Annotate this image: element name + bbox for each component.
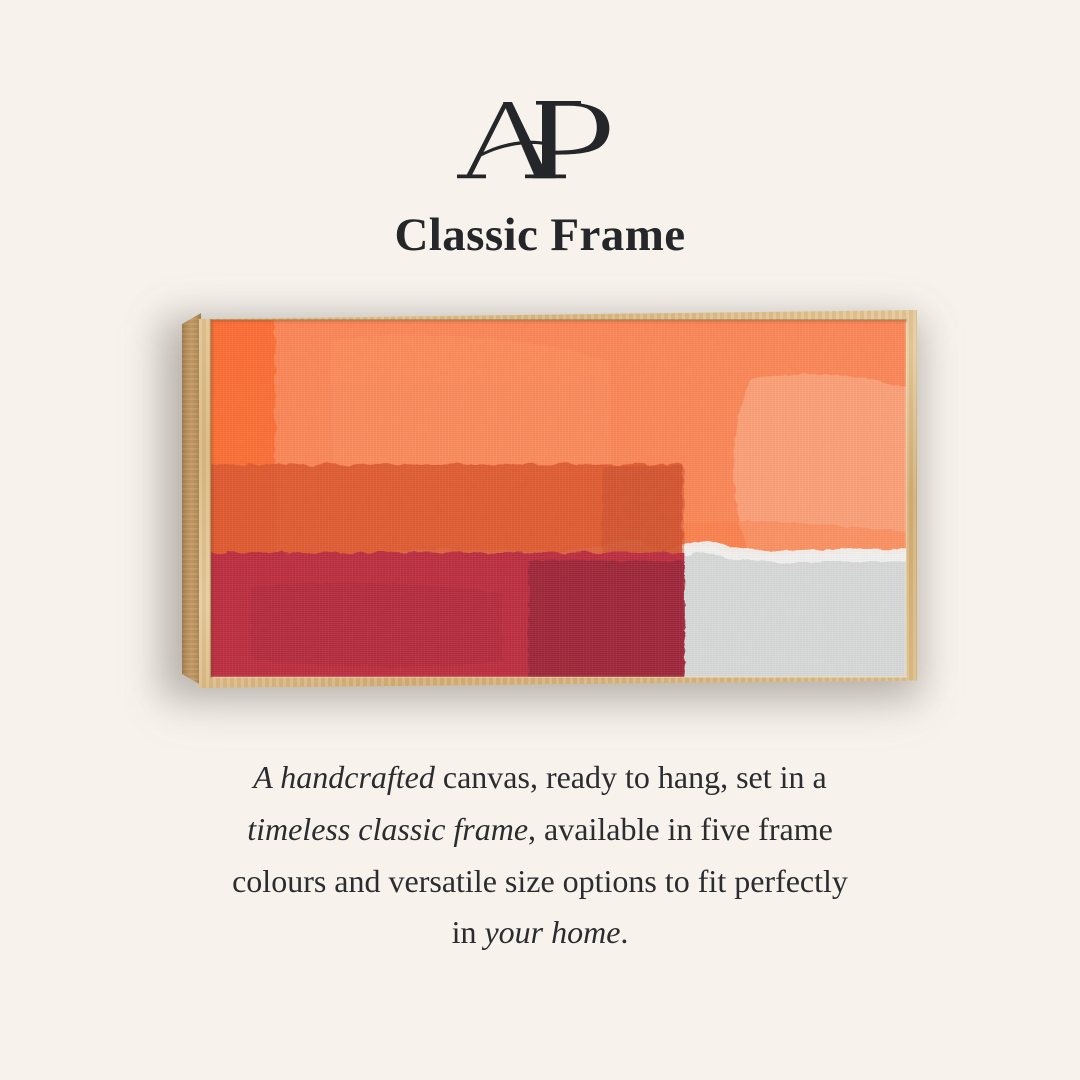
description-emphasis-3: your home bbox=[484, 914, 620, 950]
description-line-2: timeless classic frame, available in fiv… bbox=[247, 811, 833, 847]
artwork-canvas bbox=[211, 320, 906, 677]
description-line-2-rest: , available in five frame bbox=[528, 811, 833, 847]
abstract-watercolour-painting bbox=[211, 320, 906, 677]
description-line-4: in your home. bbox=[452, 914, 629, 950]
product-card: Classic Frame bbox=[0, 0, 1080, 1080]
product-description: A handcrafted canvas, ready to hang, set… bbox=[135, 752, 945, 959]
frame-side-depth bbox=[182, 313, 201, 685]
description-line-1-rest: canvas, ready to hang, set in a bbox=[435, 759, 827, 795]
description-emphasis-2: timeless classic frame bbox=[247, 811, 528, 847]
description-line-4-post: . bbox=[620, 914, 628, 950]
brand-logo bbox=[0, 96, 1080, 188]
description-line-4-pre: in bbox=[452, 914, 485, 950]
framed-artwork[interactable] bbox=[155, 296, 945, 696]
frame-moulding bbox=[199, 310, 917, 688]
description-line-1: A handcrafted canvas, ready to hang, set… bbox=[253, 759, 826, 795]
description-line-3: colours and versatile size options to fi… bbox=[232, 863, 848, 899]
page-title: Classic Frame bbox=[0, 210, 1080, 262]
description-emphasis-1: A handcrafted bbox=[253, 759, 435, 795]
ap-monogram-icon bbox=[456, 96, 624, 188]
